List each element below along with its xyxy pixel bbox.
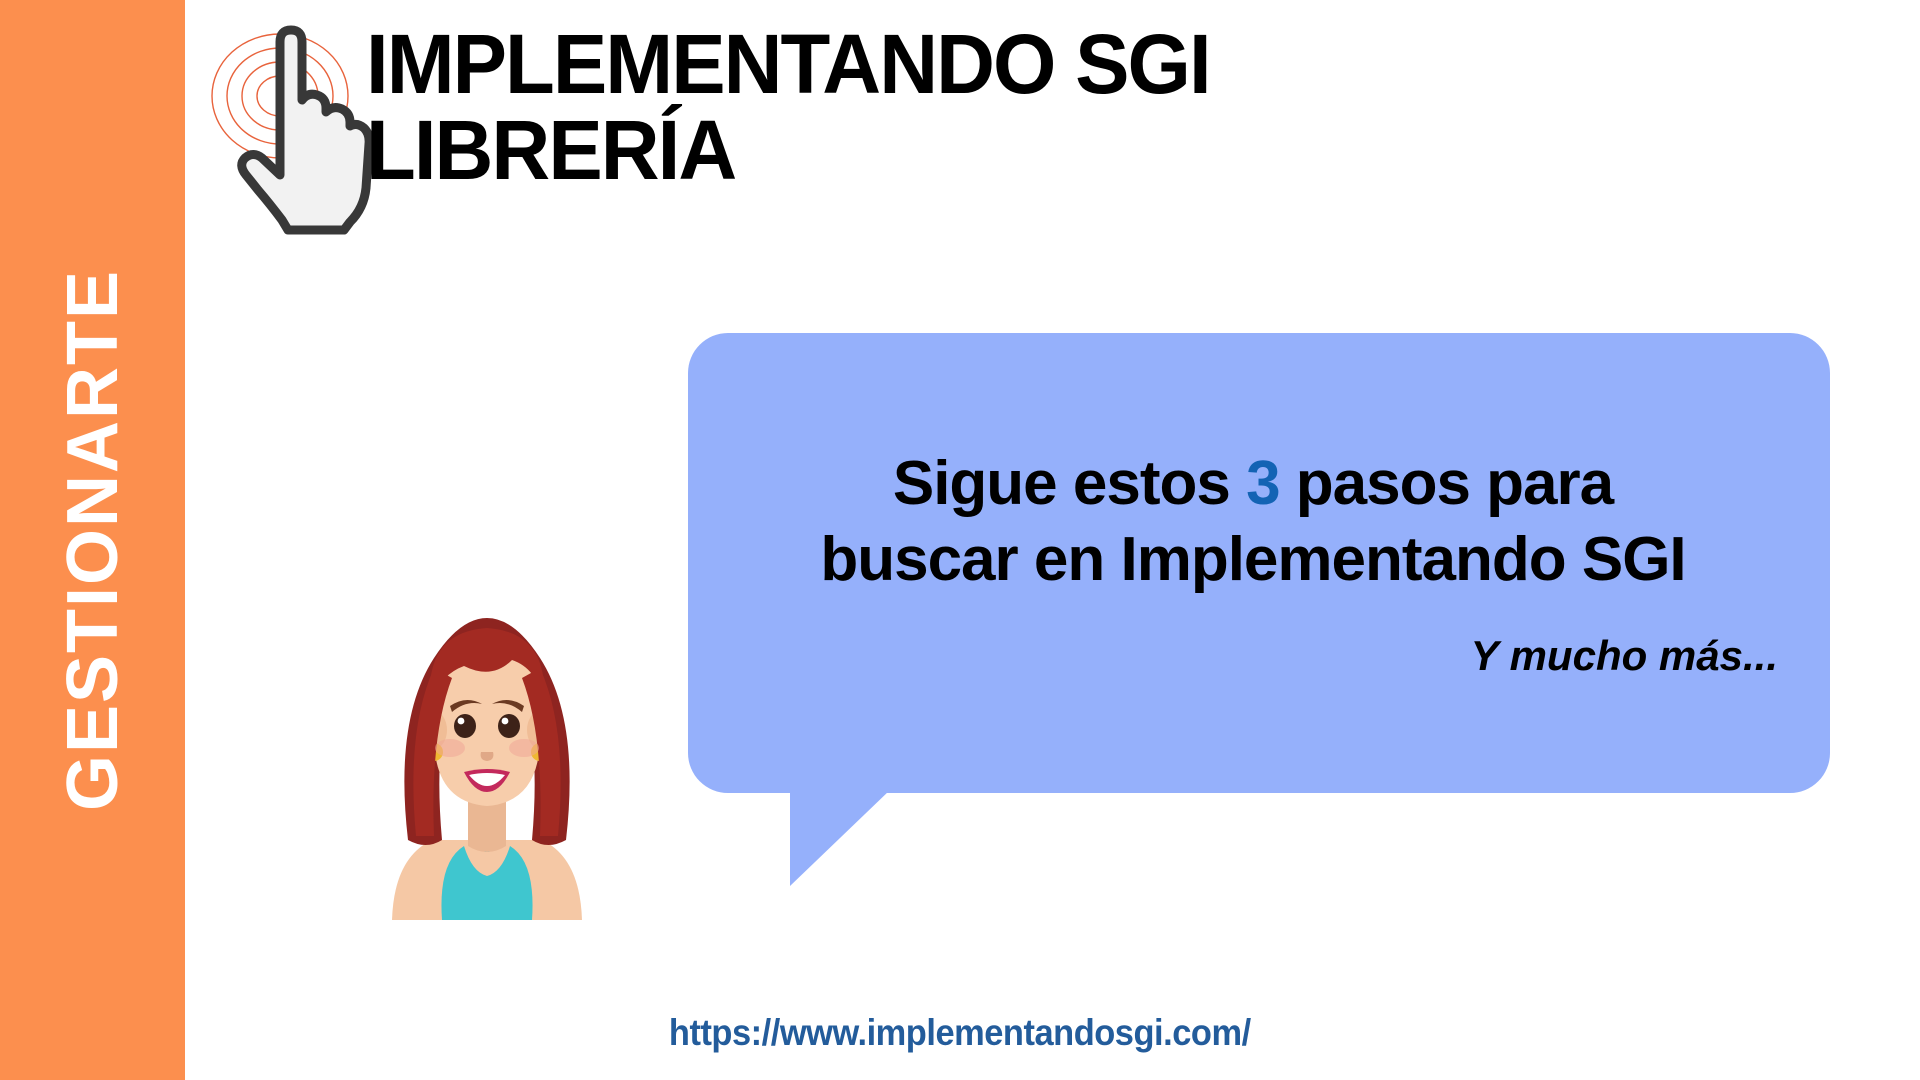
website-url-text: https://www.implementandosgi.com/	[669, 1012, 1251, 1054]
speech-bubble-tail	[790, 790, 900, 890]
brand-sidebar: GESTIONARTE	[0, 0, 185, 1080]
bubble-step-count: 3	[1246, 449, 1279, 518]
brand-name-vertical: GESTIONARTE	[52, 269, 134, 811]
avatar	[372, 540, 602, 920]
bubble-line-1: Sigue estos 3 pasos para	[728, 446, 1778, 522]
speech-bubble-content: Sigue estos 3 pasos para buscar en Imple…	[688, 333, 1830, 793]
title-line-1: IMPLEMENTANDO SGI	[366, 22, 1433, 108]
page-title: IMPLEMENTANDO SGI LIBRERÍA	[366, 22, 1466, 193]
bubble-subtext: Y mucho más...	[728, 632, 1778, 680]
pointing-hand-click-icon	[192, 12, 372, 242]
bubble-line-1-before: Sigue estos	[893, 449, 1246, 518]
bubble-line-2: buscar en Implementando SGI	[728, 522, 1778, 598]
bubble-line-1-after: pasos para	[1280, 449, 1614, 518]
website-url[interactable]: https://www.implementandosgi.com/	[0, 1012, 1920, 1054]
title-line-2: LIBRERÍA	[366, 108, 1433, 194]
